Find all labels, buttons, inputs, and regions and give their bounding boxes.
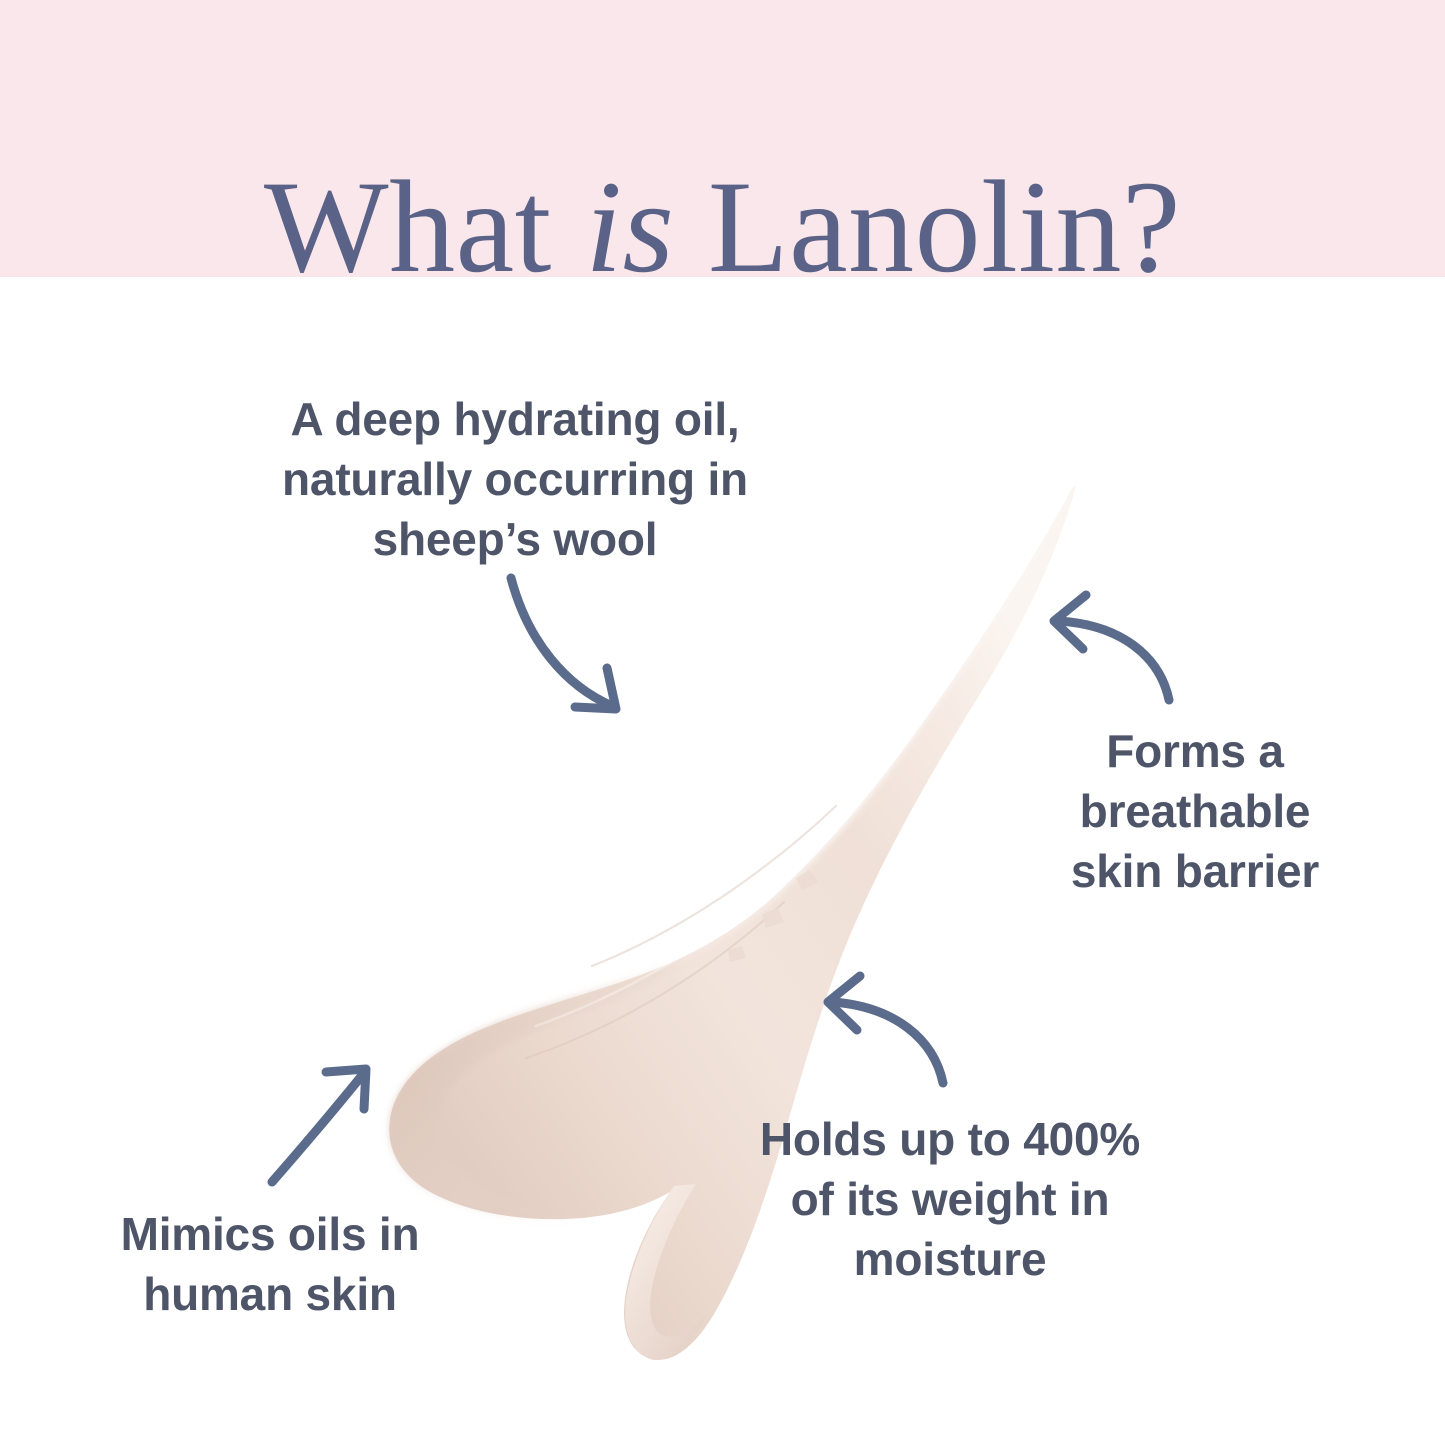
page-title-suffix: Lanolin? <box>674 161 1181 293</box>
page-title: What is Lanolin? <box>0 88 1445 365</box>
infographic-page: What is Lanolin? <box>0 0 1445 1445</box>
callout-skin-barrier: Forms a breathable skin barrier <box>1030 722 1360 901</box>
page-title-prefix: What <box>264 161 585 293</box>
callout-moisture-capacity: Holds up to 400% of its weight in moistu… <box>700 1110 1200 1289</box>
callout-mimics-skin-oils: Mimics oils in human skin <box>75 1205 465 1325</box>
page-title-emphasis: is <box>585 161 674 293</box>
callout-hydrating-oil: A deep hydrating oil, naturally occurrin… <box>215 390 815 569</box>
